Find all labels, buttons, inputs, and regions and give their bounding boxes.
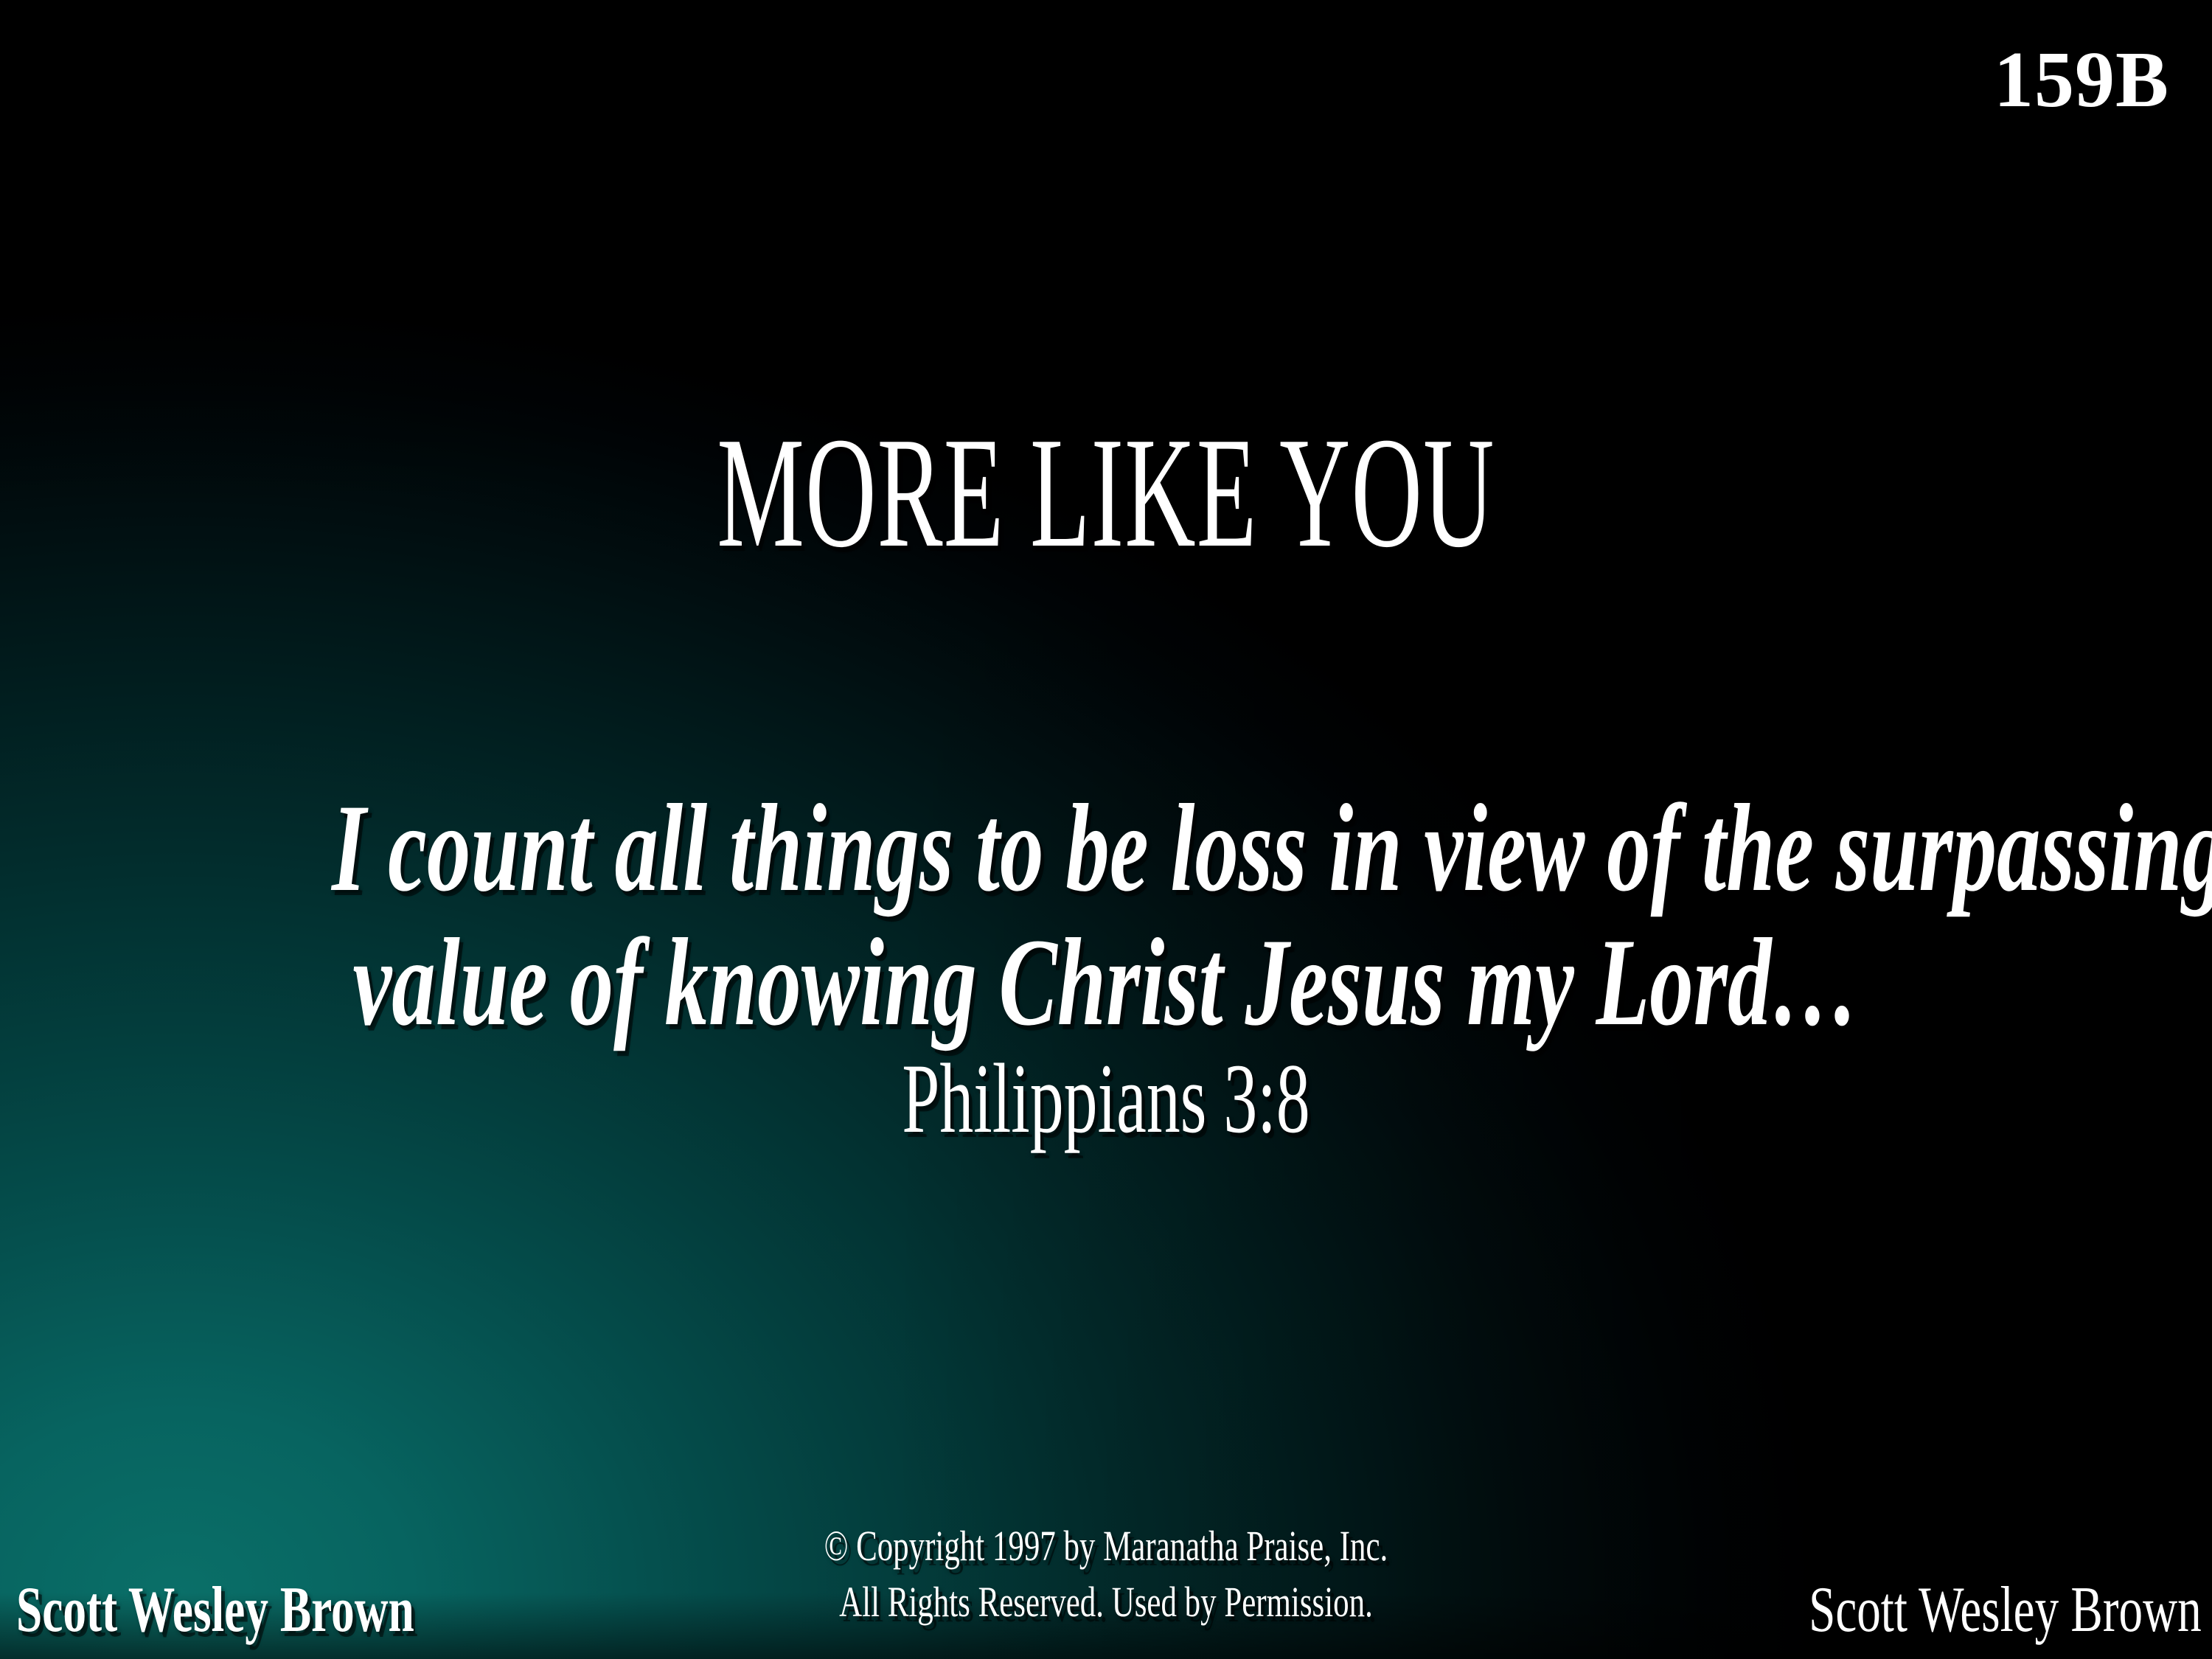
scripture-text: I count all things to be loss in view of… xyxy=(0,782,2212,1050)
scripture-line: value of knowing Christ Jesus my Lord… xyxy=(332,916,1880,1050)
copyright-line: All Rights Reserved. Used by Permission. xyxy=(288,1574,1924,1630)
scripture-reference-text: Philippians 3:8 xyxy=(902,1044,1310,1154)
song-title: MORE LIKE YOU xyxy=(420,413,1792,571)
scripture-reference: Philippians 3:8 xyxy=(354,1047,1858,1152)
worship-slide: 159B MORE LIKE YOU I count all things to… xyxy=(0,0,2212,1659)
scripture-line: I count all things to be loss in view of… xyxy=(332,782,1880,916)
slide-number: 159B xyxy=(1994,41,2169,120)
song-title-text: MORE LIKE YOU xyxy=(717,404,1495,580)
copyright-notice: © Copyright 1997 by Maranatha Praise, In… xyxy=(0,1518,2212,1630)
copyright-line: © Copyright 1997 by Maranatha Praise, In… xyxy=(288,1518,1924,1573)
